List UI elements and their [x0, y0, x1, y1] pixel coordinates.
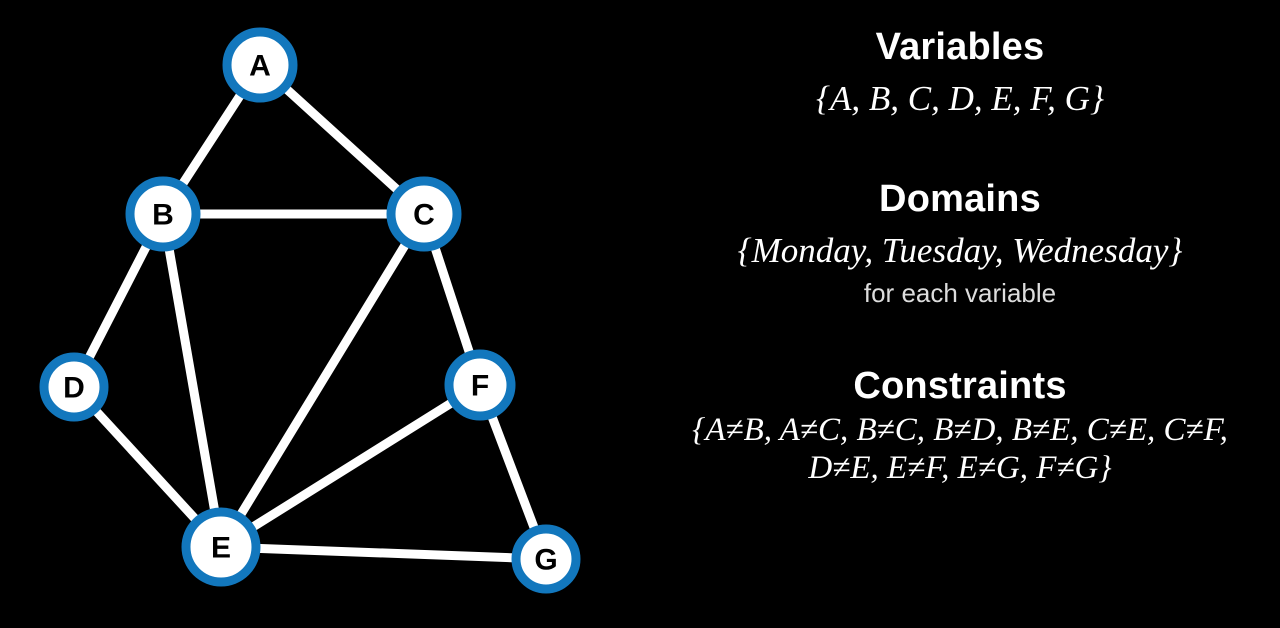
- graph-edge-b-e: [168, 245, 215, 515]
- graph-edge-c-e: [238, 240, 408, 518]
- domains-section: Domains {Monday, Tuesday, Wednesday} for…: [640, 178, 1280, 309]
- graph-edge-a-b: [180, 91, 243, 188]
- graph-edge-b-d: [87, 242, 149, 363]
- graph-node-a[interactable]: A: [227, 32, 293, 98]
- node-label-a: A: [249, 50, 271, 83]
- node-label-b: B: [152, 199, 174, 232]
- graph-edge-f-g: [490, 412, 536, 533]
- constraints-section: Constraints {A≠B, A≠C, B≠C, B≠D, B≠E, C≠…: [640, 365, 1280, 487]
- graph-edge-e-f: [249, 400, 455, 529]
- variables-set: {A, B, C, D, E, F, G}: [640, 78, 1280, 121]
- variables-heading: Variables: [640, 26, 1280, 69]
- slide-root: ABCDEFG Variables {A, B, C, D, E, F, G} …: [0, 0, 1280, 628]
- node-label-f: F: [471, 370, 489, 403]
- graph-node-e[interactable]: E: [186, 512, 256, 582]
- graph-edge-layer: [87, 86, 536, 558]
- domains-note: for each variable: [640, 278, 1280, 309]
- definition-panel: Variables {A, B, C, D, E, F, G} Domains …: [640, 0, 1280, 628]
- constraints-set: {A≠B, A≠C, B≠C, B≠D, B≠E, C≠E, C≠F, D≠E,…: [640, 412, 1280, 487]
- node-label-e: E: [211, 532, 231, 565]
- constraint-graph: ABCDEFG: [0, 0, 640, 628]
- domains-set: {Monday, Tuesday, Wednesday}: [640, 230, 1280, 273]
- graph-edge-e-g: [254, 548, 518, 558]
- variables-section: Variables {A, B, C, D, E, F, G}: [640, 26, 1280, 120]
- constraints-heading: Constraints: [640, 365, 1280, 408]
- graph-node-g[interactable]: G: [516, 529, 576, 589]
- domains-heading: Domains: [640, 178, 1280, 221]
- graph-edge-d-e: [93, 408, 199, 523]
- node-label-g: G: [534, 544, 557, 577]
- node-label-c: C: [413, 199, 435, 232]
- graph-edge-c-f: [434, 243, 471, 357]
- graph-node-c[interactable]: C: [391, 181, 457, 247]
- graph-edge-a-c: [283, 86, 401, 193]
- graph-node-f[interactable]: F: [449, 354, 511, 416]
- graph-node-d[interactable]: D: [44, 357, 104, 417]
- graph-node-b[interactable]: B: [130, 181, 196, 247]
- node-label-d: D: [63, 372, 85, 405]
- constraint-graph-panel: ABCDEFG: [0, 0, 640, 628]
